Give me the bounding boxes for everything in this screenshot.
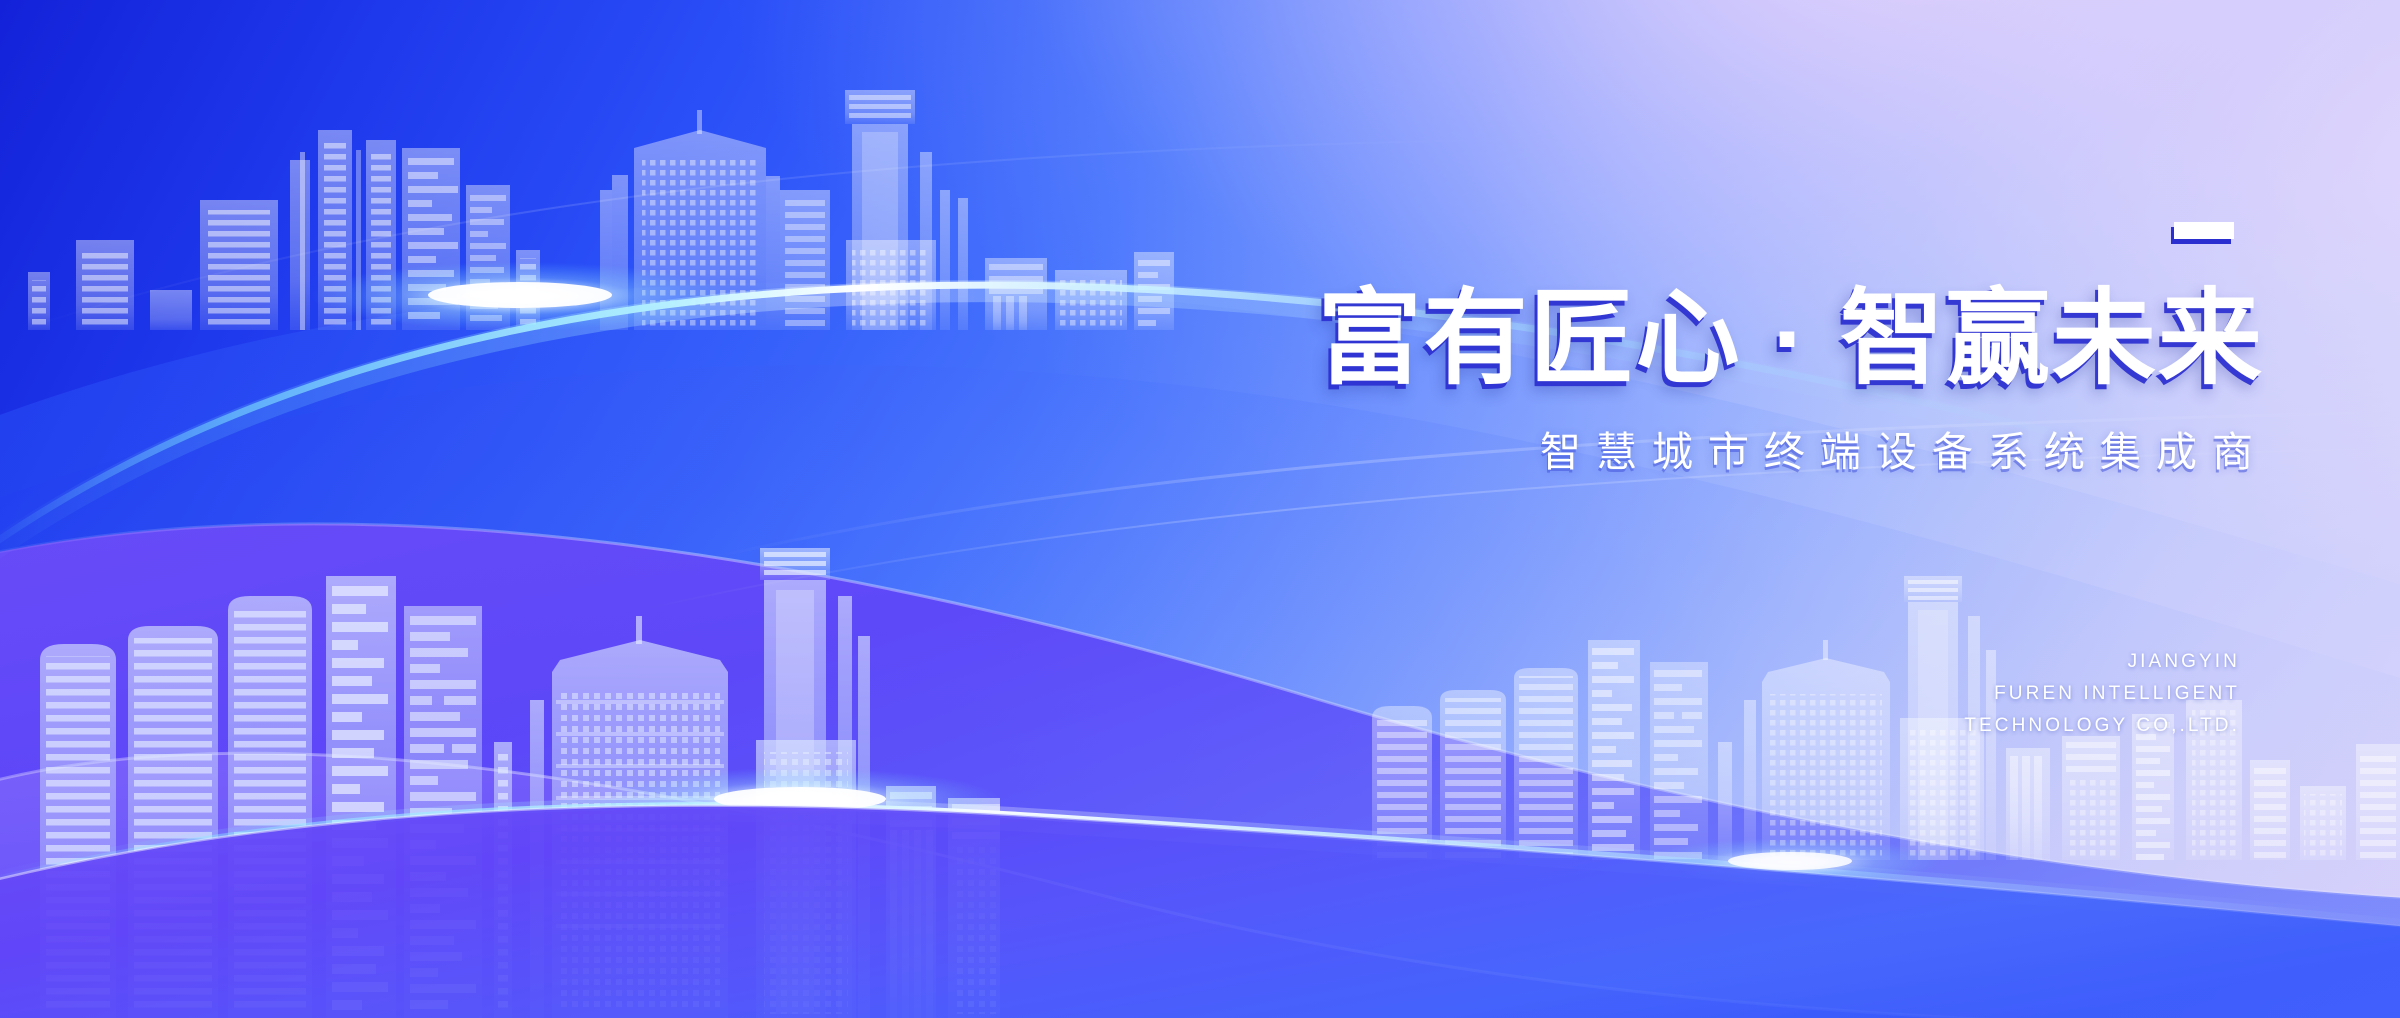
company-line-3: TECHNOLOGY CO,.LTD.	[1964, 710, 2240, 742]
banner-root: 富有匠心 · 智赢未来 智慧城市终端设备系统集成商 JIANGYIN FUREN…	[0, 0, 2400, 1018]
company-line-2: FUREN INTELLIGENT	[1964, 678, 2240, 710]
accent-dash-mark	[2174, 222, 2234, 239]
sheen-lines-layer	[0, 0, 2400, 1018]
title-block: 富有匠心 · 智赢未来 智慧城市终端设备系统集成商	[1148, 222, 2268, 478]
company-line-1: JIANGYIN	[1964, 646, 2240, 678]
page-title: 富有匠心 · 智赢未来	[1148, 286, 2268, 392]
page-subtitle: 智慧城市终端设备系统集成商	[1148, 418, 2268, 478]
company-name-block: JIANGYIN FUREN INTELLIGENT TECHNOLOGY CO…	[1964, 646, 2240, 742]
